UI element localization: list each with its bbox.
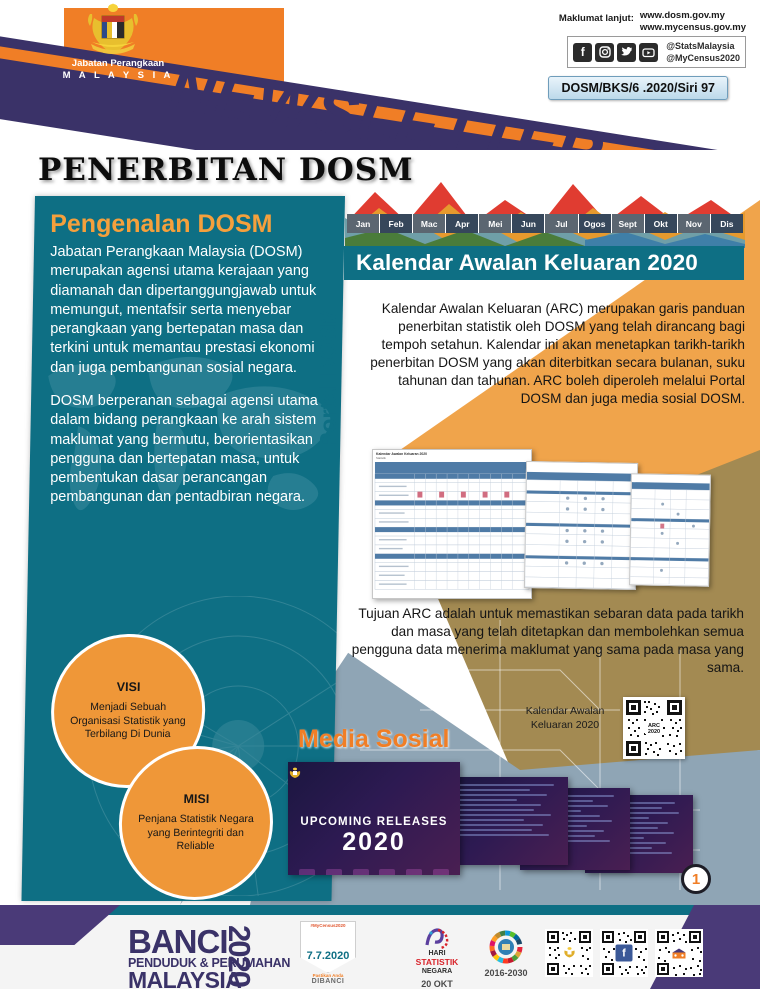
contact-info: Maklumat lanjut: www.dosm.gov.my www.myc… — [559, 10, 746, 34]
facebook-icon[interactable]: f — [573, 43, 592, 62]
month-tab-ogos[interactable]: Ogos — [579, 214, 612, 233]
hari-statistik-line2: STATISTIK — [406, 958, 468, 967]
page-footer: BANCI PENDUDUK & PERUMAHAN MALAYSIA DATA… — [0, 905, 760, 989]
qr-inner-label: ARC 2020 — [645, 721, 663, 735]
arc-qr-caption-line1: Kalendar Awalan — [520, 705, 610, 719]
arc-qr-code[interactable]: ARC 2020 — [623, 697, 685, 759]
hari-statistik-line3: NEGARA — [406, 968, 468, 975]
media-card-line2: 2020 — [288, 830, 460, 855]
hari-statistik-logo: HARI STATISTIK NEGARA 20 OKT — [406, 927, 468, 989]
month-tab-feb[interactable]: Feb — [380, 214, 413, 233]
visi-text: Menjadi Sebuah Organisasi Statistik yang… — [54, 701, 203, 741]
svg-text:2020: 2020 — [648, 729, 660, 735]
banci-logo: BANCI PENDUDUK & PERUMAHAN MALAYSIA DATA… — [128, 927, 290, 989]
month-tab-mac[interactable]: Mac — [413, 214, 446, 233]
page-number: 1 — [681, 864, 711, 894]
url-mycensus[interactable]: www.mycensus.gov.my — [640, 22, 746, 34]
url-dosm[interactable]: www.dosm.gov.my — [640, 10, 746, 22]
sdg-label: 2016-2030 — [478, 968, 534, 978]
malaysia-coat-of-arms-icon — [82, 2, 144, 58]
dibanci-label: Pastikan Anda DIBANCI — [300, 973, 356, 985]
month-tab-jul[interactable]: Jul — [545, 214, 578, 233]
sdg-wheel-icon — [488, 929, 524, 965]
footer-teal-bar — [30, 905, 730, 915]
sdg-wheel-logo: 2016-2030 — [478, 929, 534, 978]
month-tab-mei[interactable]: Mei — [479, 214, 512, 233]
hari-statistik-line1: HARI — [406, 950, 468, 957]
pengenalan-paragraph-1: Jabatan Perangkaan Malaysia (DOSM) merup… — [50, 243, 318, 378]
dibanci-line2: DIBANCI — [300, 978, 356, 985]
calendar-screenshot-3[interactable] — [629, 473, 711, 586]
portal-dosm-label: Portal DOSM — [315, 307, 342, 448]
media-icon-building — [326, 869, 342, 875]
media-card-upcoming-releases[interactable]: UPCOMING RELEASES 2020 — [288, 762, 460, 875]
page-header: NEWSLETTER Jabatan Perangkaan M A L A Y … — [0, 0, 760, 150]
month-tabs[interactable]: Jan Feb Mac Apr Mei Jun Jul Ogos Sept Ok… — [347, 214, 743, 233]
media-sosial-heading: Media Sosial — [298, 725, 449, 754]
website-urls: www.dosm.gov.my www.mycensus.gov.my — [640, 10, 746, 34]
footer-qr-code-3[interactable] — [655, 929, 703, 977]
calendar-screenshot-1[interactable]: Kalendar Awalan Keluaran 2020 Statistik — [372, 449, 532, 599]
newsletter-page: NEWSLETTER Jabatan Perangkaan M A L A Y … — [0, 0, 760, 989]
kalendar-title: Kalendar Awalan Keluaran 2020 — [344, 246, 744, 280]
census-hashtag: #MyCensus2020 — [310, 923, 345, 928]
media-card-2[interactable] — [450, 777, 568, 865]
department-line1: Jabatan Perangkaan — [58, 58, 178, 69]
media-icon-people — [353, 869, 369, 875]
screenshot-table-grid — [373, 462, 531, 590]
screenshot-table-grid-3 — [630, 474, 710, 585]
banci-line1: BANCI — [128, 927, 290, 956]
kalendar-paragraph-1: Kalendar Awalan Keluaran (ARC) merupakan… — [355, 300, 745, 408]
media-icon-home — [379, 869, 395, 875]
department-line2: M A L A Y S I A — [58, 70, 178, 81]
census-date-shield: #MyCensus2020 7.7.2020 — [300, 921, 356, 973]
footer-qr-code-1[interactable] — [545, 929, 593, 977]
footer-purple-left — [0, 905, 120, 945]
month-tab-nov[interactable]: Nov — [678, 214, 711, 233]
visi-title: VISI — [117, 680, 141, 694]
social-handles: @StatsMalaysia @MyCensus2020 — [666, 40, 740, 64]
month-tab-sept[interactable]: Sept — [612, 214, 645, 233]
page-title: PENERBITAN DOSM — [38, 152, 414, 188]
media-icon-trend — [433, 869, 449, 875]
month-tab-dis[interactable]: Dis — [711, 214, 743, 233]
month-tab-jun[interactable]: Jun — [512, 214, 545, 233]
banci-line3: MALAYSIA — [128, 970, 290, 989]
department-name: Jabatan Perangkaan M A L A Y S I A — [58, 58, 178, 81]
hari-statistik-icon — [424, 927, 450, 949]
footer-qr-code-2[interactable]: f — [600, 929, 648, 977]
instagram-icon[interactable] — [595, 43, 614, 62]
misi-title: MISI — [183, 792, 209, 806]
screenshot-table-grid-2 — [525, 462, 637, 589]
qr-badge-crest-icon — [561, 945, 578, 962]
qr-code-icon: ARC 2020 — [623, 697, 685, 759]
mountain-chart-decoration — [345, 178, 745, 248]
maklumat-label: Maklumat lanjut: — [559, 10, 634, 24]
handle-mycensus2020: @MyCensus2020 — [666, 52, 740, 64]
kalendar-paragraph-2: Tujuan ARC adalah untuk memastikan sebar… — [348, 605, 744, 677]
media-card-icon-row — [288, 869, 460, 875]
youtube-icon[interactable] — [639, 43, 658, 62]
social-media-box: f @StatsMalaysia @MyCensus2020 — [567, 36, 746, 68]
arc-qr-caption: Kalendar Awalan Keluaran 2020 — [520, 705, 610, 732]
qr-badge-facebook-icon: f — [616, 945, 633, 962]
media-card-2-lines — [450, 777, 568, 846]
pengenalan-paragraph-2: DOSM berperanan sebagai agensi utama dal… — [50, 392, 318, 508]
month-tab-apr[interactable]: Apr — [446, 214, 479, 233]
pengenalan-heading: Pengenalan DOSM — [50, 210, 318, 239]
census-date: 7.7.2020 — [307, 950, 350, 962]
month-tab-jan[interactable]: Jan — [347, 214, 380, 233]
arc-qr-caption-line2: Keluaran 2020 — [520, 719, 610, 733]
twitter-icon[interactable] — [617, 43, 636, 62]
calendar-screenshot-2[interactable] — [524, 461, 638, 590]
document-id-badge: DOSM/BKS/6 .2020/Siri 97 — [548, 76, 728, 100]
media-card-crest-icon — [288, 767, 302, 779]
media-card-line1: UPCOMING RELEASES — [288, 816, 460, 828]
media-icon-chart — [299, 869, 315, 875]
handle-statsmalaysia: @StatsMalaysia — [666, 40, 740, 52]
qr-badge-mycensus-icon — [671, 945, 688, 962]
media-icon-recycle — [406, 869, 422, 875]
hari-statistik-date: 20 OKT — [406, 979, 468, 989]
misi-text: Penjana Statistik Negara yang Berintegri… — [121, 813, 270, 853]
month-tab-okt[interactable]: Okt — [645, 214, 678, 233]
